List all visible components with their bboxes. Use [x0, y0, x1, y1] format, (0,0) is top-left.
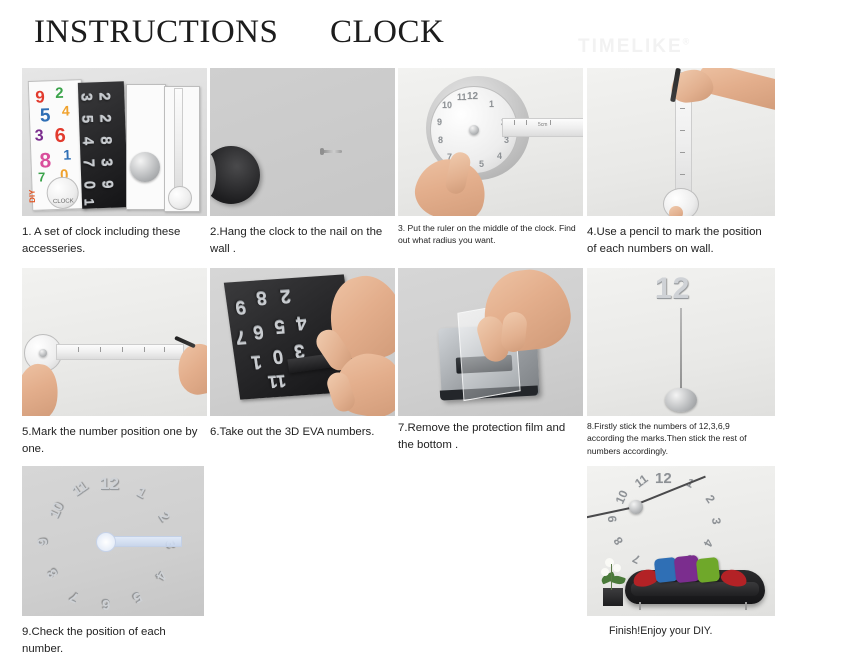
eva-number: 0	[271, 345, 285, 368]
box-art-number: 3	[34, 127, 44, 145]
eva-number: 1	[250, 350, 264, 373]
wall-number-9: 9	[34, 537, 51, 546]
wall-number-6: 6	[102, 596, 110, 613]
step-caption-8: 8.Firstly stick the numbers of 12,3,6,9 …	[587, 420, 757, 457]
box-art-number: 5	[40, 105, 51, 127]
step-caption-10: Finish!Enjoy your DIY.	[609, 624, 779, 639]
box-brand-label: DIY	[28, 189, 37, 203]
eva-number: 7	[234, 325, 248, 348]
photo-template-on-wall: 12 1 2 3 4 5 6 7 8 9 10 11 5cm	[398, 68, 583, 216]
sofa-leg	[639, 602, 641, 610]
photo-finished-room: 12 1 2 3 4 5 6 7 8 9 10 11	[587, 466, 775, 616]
dial-number: 9	[437, 117, 442, 127]
step-cell-8: 12 8.Firstly stick the numbers of 12,3,6…	[587, 268, 775, 468]
box-art-number: 4	[62, 103, 70, 119]
eva-number: 9	[234, 295, 248, 318]
ruler-tick	[680, 130, 685, 131]
eva-number: 2	[279, 284, 293, 307]
box-art-number: 1	[63, 147, 71, 163]
dial-number: 10	[442, 100, 452, 110]
cushion-green	[696, 557, 720, 583]
ruler-tick	[680, 152, 685, 153]
step-cell-7: 7.Remove the protection film and the bot…	[398, 268, 583, 468]
eva-number-tray: 3 2 5 2 4 8 7 3 0 9 1	[78, 81, 128, 209]
step-caption-6: 6.Take out the 3D EVA numbers.	[210, 424, 392, 441]
photo-pencil-mark-vertical	[587, 68, 775, 216]
eva-number: 4	[295, 311, 309, 334]
dial-number: 11	[457, 92, 467, 102]
dial-number: 5	[479, 159, 484, 169]
wall-number-12: 12	[100, 474, 119, 494]
dial-number: 1	[489, 99, 494, 109]
page-title: INSTRUCTIONS	[34, 14, 278, 51]
step-caption-4: 4.Use a pencil to mark the position of e…	[587, 224, 767, 257]
step-caption-2: 2.Hang the clock to the nail on the wall…	[210, 224, 390, 257]
box-art-number: 2	[55, 85, 64, 102]
clock-hand	[680, 308, 682, 394]
ruler-tick	[526, 120, 527, 125]
step-cell-1: 9 2 5 4 3 6 8 1 7 0 DIY CLOCK 3 2 5	[22, 68, 207, 273]
eva-number: 4	[79, 137, 96, 146]
step-cell-5: 5.Mark the number position one by one.	[22, 268, 207, 468]
eva-number: 7	[80, 159, 97, 168]
eva-number: 3	[98, 158, 115, 167]
eva-number: 5	[273, 315, 287, 338]
photo-ruler-horizontal-mark	[22, 268, 207, 416]
ruler-scale-label: 5cm	[538, 122, 547, 128]
box-brand-sublabel: CLOCK	[53, 198, 74, 205]
step-cell-4: 4.Use a pencil to mark the position of e…	[587, 68, 775, 273]
photo-check-positions: 12 1 2 3 4 5 6 7 8 9 10 11	[22, 466, 204, 616]
step-cell-9: 12 1 2 3 4 5 6 7 8 9 10 11 9.Check the p…	[22, 466, 207, 666]
ruler-tick	[100, 347, 101, 352]
ruler-tick	[122, 347, 123, 352]
orchid-flower	[601, 568, 609, 576]
ruler-tick	[144, 347, 145, 352]
step-caption-7: 7.Remove the protection film and the bot…	[398, 420, 578, 453]
photo-stick-twelve: 12	[587, 268, 775, 416]
nail-on-wall	[322, 150, 342, 153]
brand-watermark: TIMELIKE®	[578, 36, 691, 58]
ruler-tick	[164, 347, 165, 352]
sofa-leg	[745, 602, 747, 610]
eva-number: 0	[81, 181, 98, 190]
eva-number: 2	[96, 92, 113, 101]
step-caption-9: 9.Check the position of each number.	[22, 624, 197, 657]
dial-number: 4	[497, 151, 502, 161]
dial-number: 12	[467, 91, 478, 102]
template-center-hub	[469, 125, 479, 135]
photo-remove-film	[398, 268, 583, 416]
wall-number-12: 12	[655, 470, 672, 487]
photo-peel-eva-tray: 2 8 9 4 5 6 7 3 0 1 11	[210, 268, 395, 416]
plant-stem	[611, 564, 612, 590]
template-center-hub	[39, 349, 47, 357]
step-cell-3: 12 1 2 3 4 5 6 7 8 9 10 11 5cm	[398, 68, 583, 273]
ruler-tick	[680, 108, 685, 109]
orchid-flower	[613, 564, 621, 572]
box-art-number: 7	[38, 169, 46, 184]
step-caption-5: 5.Mark the number position one by one.	[22, 424, 200, 457]
box-art-number: 6	[54, 125, 66, 148]
eva-number: 1	[82, 198, 97, 206]
measuring-ruler	[174, 88, 183, 194]
step-cell-2: 2.Hang the clock to the nail on the wall…	[210, 68, 395, 273]
measuring-ruler	[108, 536, 182, 547]
eva-number: 9	[99, 180, 116, 189]
photo-hang-on-nail	[210, 68, 395, 216]
nail-head	[320, 148, 324, 155]
ruler-tick	[514, 120, 515, 125]
step-cell-10: 12 1 2 3 4 5 6 7 8 9 10 11	[587, 466, 775, 666]
ruler-tick	[78, 347, 79, 352]
sheet-header: INSTRUCTIONS CLOCK TIMELIKE®	[0, 14, 860, 60]
step-caption-3: 3. Put the ruler on the middle of the cl…	[398, 222, 580, 247]
step-caption-1: 1. A set of clock including these access…	[22, 224, 197, 257]
dial-template	[96, 532, 116, 552]
ruler-tick	[550, 120, 551, 125]
finger	[669, 206, 683, 216]
page-title-secondary: CLOCK	[330, 14, 444, 51]
clock-center-hub	[629, 500, 643, 514]
wall-number-3: 3	[709, 517, 724, 525]
eva-number: 5	[79, 115, 96, 124]
eva-number: 8	[255, 286, 269, 309]
clock-center-hub	[665, 388, 697, 412]
dial-number: 8	[438, 135, 443, 145]
clock-movement-hub	[130, 152, 160, 182]
eva-number: 8	[97, 136, 114, 145]
eva-number: 3	[78, 93, 95, 102]
stuck-number-12: 12	[655, 272, 690, 306]
step-cell-6: 2 8 9 4 5 6 7 3 0 1 11 6.Take out the 3D…	[210, 268, 395, 468]
ruler-tick	[680, 174, 685, 175]
eva-number: 6	[251, 320, 265, 343]
instruction-sheet: INSTRUCTIONS CLOCK TIMELIKE® 9 2 5 4 3 6…	[0, 0, 860, 672]
eva-number: 2	[97, 114, 114, 123]
photo-kit-contents: 9 2 5 4 3 6 8 1 7 0 DIY CLOCK 3 2 5	[22, 68, 207, 216]
eva-number: 11	[267, 371, 288, 392]
plant-pot	[603, 588, 623, 606]
movement-card	[126, 84, 166, 210]
dial-template	[168, 186, 192, 210]
